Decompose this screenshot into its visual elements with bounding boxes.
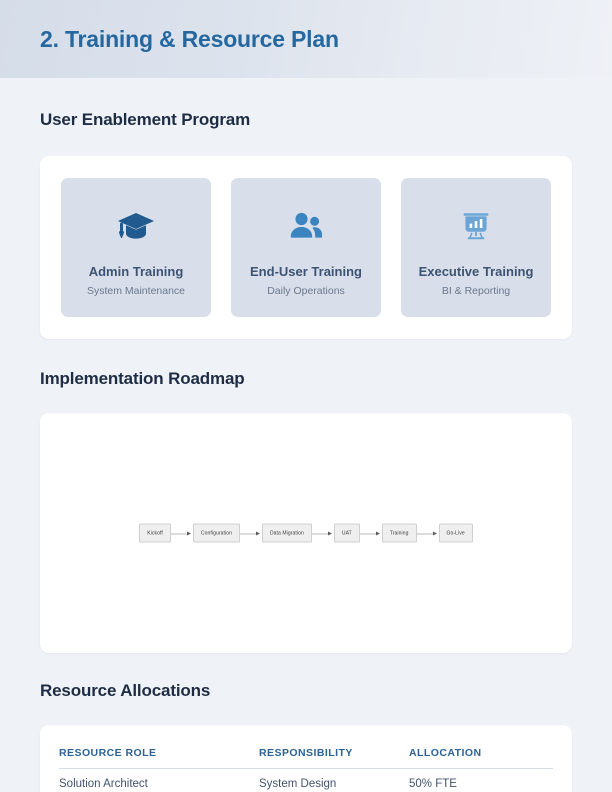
flow-arrow-icon — [417, 530, 439, 536]
training-tile-title: Executive Training — [409, 264, 543, 279]
table-cell: 50% FTE — [409, 769, 553, 791]
flow-node[interactable]: Kickoff — [139, 524, 171, 543]
column-header-allocation: ALLOCATION — [409, 747, 553, 769]
column-header-resource-role: RESOURCE ROLE — [59, 747, 259, 769]
flow-arrow-icon — [171, 530, 193, 536]
roadmap-section: Implementation Roadmap KickoffConfigurat… — [0, 369, 612, 653]
training-tile-subtitle: Daily Operations — [239, 285, 373, 297]
roadmap-heading: Implementation Roadmap — [40, 369, 572, 389]
page-header: 2. Training & Resource Plan — [0, 0, 612, 78]
training-tile-title: End-User Training — [239, 264, 373, 279]
table-cell: System Design — [259, 769, 409, 791]
resources-heading: Resource Allocations — [40, 681, 572, 701]
flow-node[interactable]: Training — [382, 524, 417, 543]
resources-section: Resource Allocations RESOURCE ROLE RESPO… — [0, 681, 612, 792]
table-header-row: RESOURCE ROLE RESPONSIBILITY ALLOCATION — [59, 747, 553, 769]
table-body: Solution ArchitectSystem Design50% FTEDa… — [59, 769, 553, 792]
graduation-cap-icon — [69, 204, 203, 248]
training-tile-title: Admin Training — [69, 264, 203, 279]
presentation-chart-icon — [409, 204, 543, 248]
page-title: 2. Training & Resource Plan — [40, 26, 339, 53]
flow-node[interactable]: UAT — [334, 524, 360, 543]
flow-node[interactable]: Data Migration — [262, 524, 312, 543]
resources-card: RESOURCE ROLE RESPONSIBILITY ALLOCATION … — [40, 725, 572, 792]
column-header-responsibility: RESPONSIBILITY — [259, 747, 409, 769]
resource-allocations-table: RESOURCE ROLE RESPONSIBILITY ALLOCATION … — [59, 747, 553, 792]
user-enablement-section: User Enablement Program Admin Training S… — [0, 110, 612, 339]
training-tile-end-user[interactable]: End-User Training Daily Operations — [231, 178, 381, 317]
flow-arrow-icon — [240, 530, 262, 536]
flow-node[interactable]: Configuration — [193, 524, 240, 543]
roadmap-card: KickoffConfigurationData MigrationUATTra… — [40, 413, 572, 653]
user-enablement-heading: User Enablement Program — [40, 110, 572, 130]
enablement-card: Admin Training System Maintenance End-Us… — [40, 156, 572, 339]
training-tile-admin[interactable]: Admin Training System Maintenance — [61, 178, 211, 317]
table-row: Solution ArchitectSystem Design50% FTE — [59, 769, 553, 791]
table-cell: Solution Architect — [59, 769, 259, 791]
flow-node[interactable]: Go-Live — [439, 524, 473, 543]
training-tile-subtitle: System Maintenance — [69, 285, 203, 297]
training-tile-executive[interactable]: Executive Training BI & Reporting — [401, 178, 551, 317]
flow-arrow-icon — [360, 530, 382, 536]
users-icon — [239, 204, 373, 248]
roadmap-flow-diagram: KickoffConfigurationData MigrationUATTra… — [40, 524, 572, 543]
flow-arrow-icon — [312, 530, 334, 536]
training-tile-subtitle: BI & Reporting — [409, 285, 543, 297]
